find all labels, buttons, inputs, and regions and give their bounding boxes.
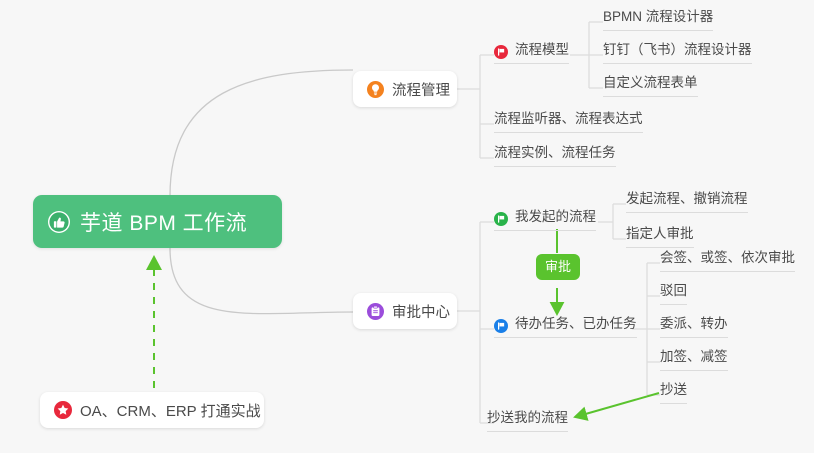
node-delegate-transfer[interactable]: 委派、转办 bbox=[660, 315, 728, 338]
node-todo-done-tasks[interactable]: 待办任务、已办任务 bbox=[494, 315, 637, 338]
node-process-listener-expression[interactable]: 流程监听器、流程表达式 bbox=[494, 110, 643, 133]
node-process-model[interactable]: 流程模型 bbox=[494, 41, 569, 64]
node-start-cancel-process-label: 发起流程、撤销流程 bbox=[626, 190, 748, 208]
node-reject[interactable]: 驳回 bbox=[660, 282, 687, 305]
node-oa-crm-erp[interactable]: OA、CRM、ERP 打通实战 bbox=[40, 392, 264, 428]
annotation-approve-chip[interactable]: 审批 bbox=[536, 254, 580, 280]
root-node[interactable]: 芋道 BPM 工作流 bbox=[33, 195, 282, 248]
node-process-listener-expression-label: 流程监听器、流程表达式 bbox=[494, 110, 643, 128]
lightbulb-icon bbox=[367, 81, 384, 98]
node-delegate-transfer-label: 委派、转办 bbox=[660, 315, 728, 333]
node-dingtalk-feishu-designer-label: 钉钉（飞书）流程设计器 bbox=[603, 41, 752, 59]
star-icon bbox=[54, 401, 72, 419]
node-bpmn-designer[interactable]: BPMN 流程设计器 bbox=[603, 8, 713, 31]
node-add-remove-signer-label: 加签、减签 bbox=[660, 348, 728, 366]
node-assigned-approver-label: 指定人审批 bbox=[626, 225, 694, 243]
node-assigned-approver[interactable]: 指定人审批 bbox=[626, 225, 694, 248]
node-countersign-orsign-sequential-label: 会签、或签、依次审批 bbox=[660, 249, 795, 267]
thumbs-up-icon bbox=[47, 210, 71, 234]
mindmap-canvas: 芋道 BPM 工作流 流程管理 审批中心 bbox=[0, 0, 814, 453]
annotation-approve-chip-label: 审批 bbox=[545, 259, 571, 274]
node-add-remove-signer[interactable]: 加签、减签 bbox=[660, 348, 728, 371]
node-todo-done-tasks-label: 待办任务、已办任务 bbox=[515, 315, 637, 333]
node-process-instance-task-label: 流程实例、流程任务 bbox=[494, 144, 616, 162]
node-process-management[interactable]: 流程管理 bbox=[353, 71, 457, 107]
node-cc-to-me-processes[interactable]: 抄送我的流程 bbox=[487, 409, 568, 432]
node-approval-center-label: 审批中心 bbox=[392, 301, 450, 322]
node-start-cancel-process[interactable]: 发起流程、撤销流程 bbox=[626, 190, 748, 213]
node-cc[interactable]: 抄送 bbox=[660, 381, 687, 404]
node-approval-center[interactable]: 审批中心 bbox=[353, 293, 457, 329]
clipboard-icon bbox=[367, 303, 384, 320]
node-my-initiated-processes[interactable]: 我发起的流程 bbox=[494, 208, 596, 231]
node-custom-process-form[interactable]: 自定义流程表单 bbox=[603, 74, 698, 97]
node-cc-label: 抄送 bbox=[660, 381, 687, 399]
node-countersign-orsign-sequential[interactable]: 会签、或签、依次审批 bbox=[660, 249, 795, 272]
node-dingtalk-feishu-designer[interactable]: 钉钉（飞书）流程设计器 bbox=[603, 41, 752, 64]
flag-icon bbox=[494, 45, 508, 59]
flag-icon bbox=[494, 319, 508, 333]
node-process-model-label: 流程模型 bbox=[515, 41, 569, 59]
node-cc-to-me-processes-label: 抄送我的流程 bbox=[487, 409, 568, 427]
node-process-instance-task[interactable]: 流程实例、流程任务 bbox=[494, 144, 616, 167]
node-custom-process-form-label: 自定义流程表单 bbox=[603, 74, 698, 92]
root-node-label: 芋道 BPM 工作流 bbox=[80, 207, 247, 237]
node-bpmn-designer-label: BPMN 流程设计器 bbox=[603, 8, 713, 26]
node-reject-label: 驳回 bbox=[660, 282, 687, 300]
node-oa-crm-erp-label: OA、CRM、ERP 打通实战 bbox=[80, 400, 261, 421]
node-my-initiated-processes-label: 我发起的流程 bbox=[515, 208, 596, 226]
flag-icon bbox=[494, 212, 508, 226]
node-process-management-label: 流程管理 bbox=[392, 79, 450, 100]
